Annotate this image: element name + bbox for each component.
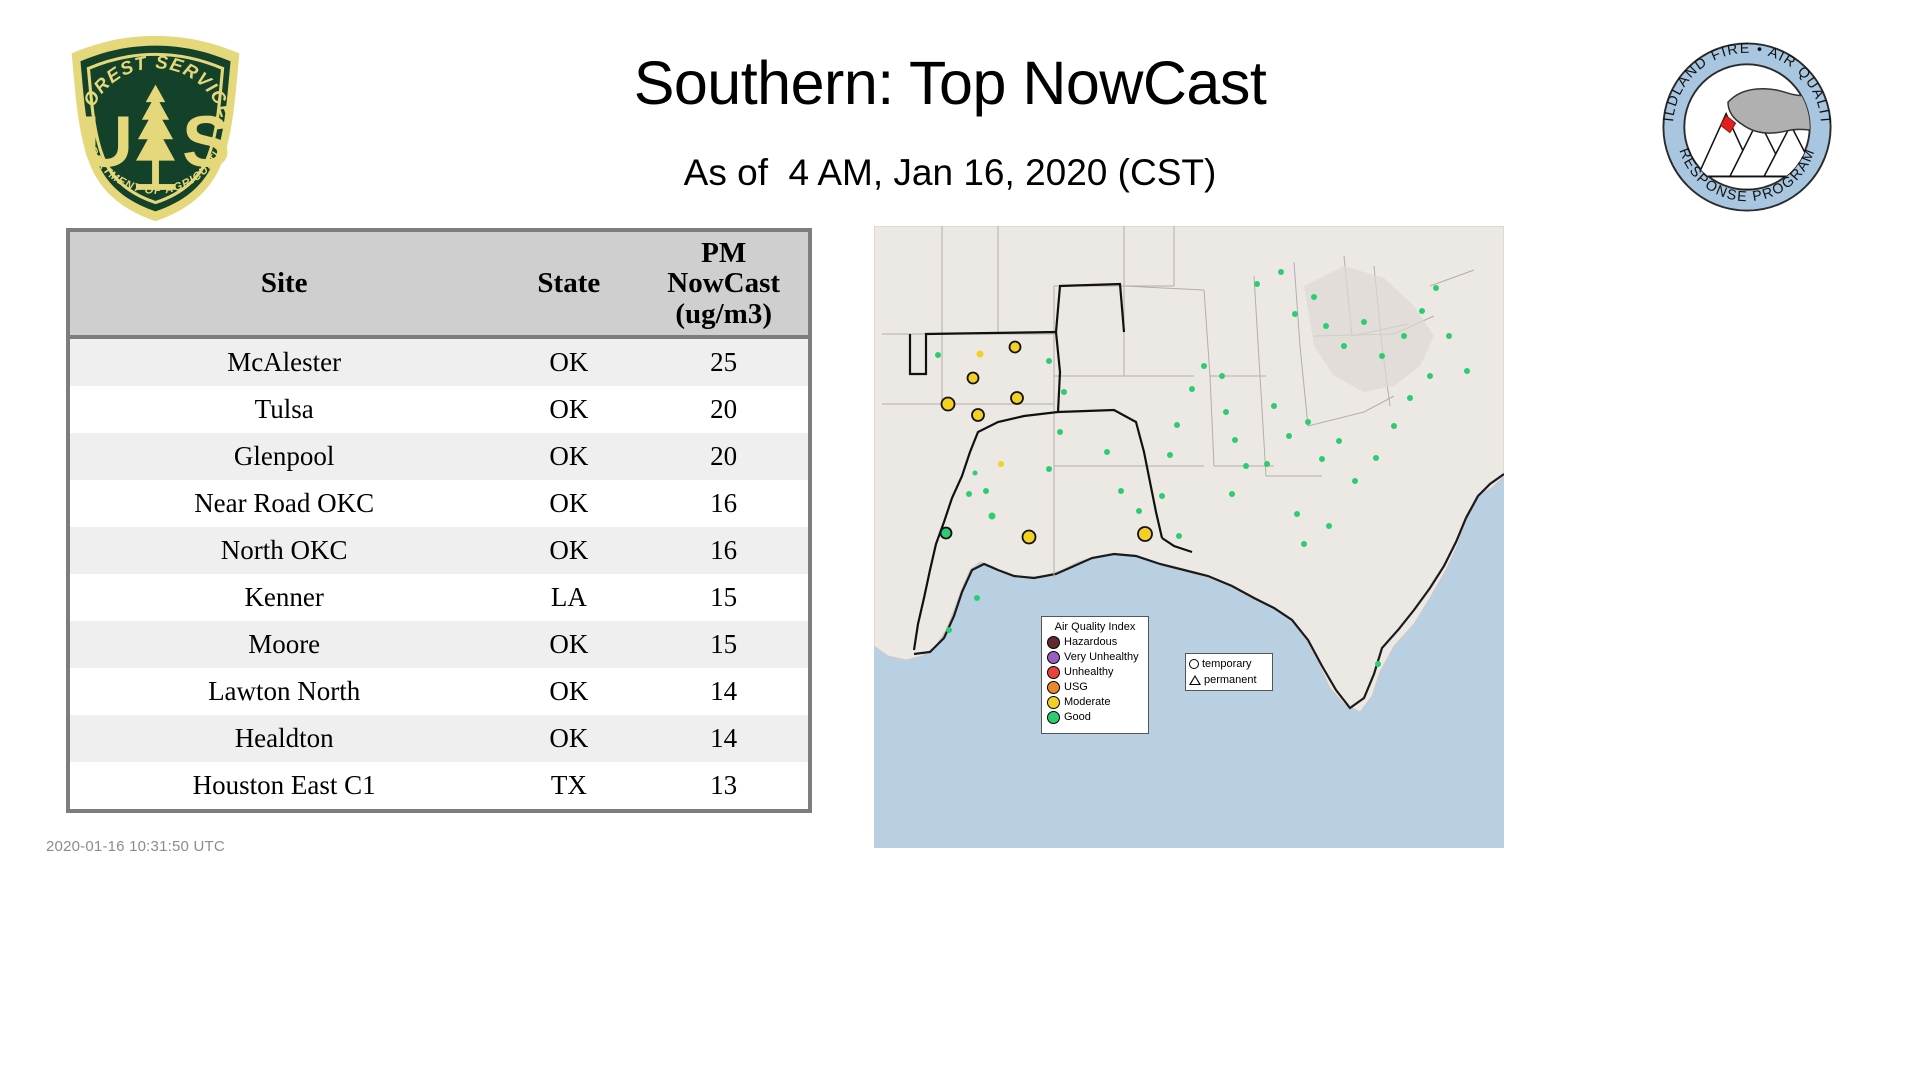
monitor-point[interactable] — [1010, 342, 1021, 353]
legend-row-permanent: permanent — [1189, 672, 1269, 688]
cell-state: TX — [498, 762, 639, 811]
monitor-point[interactable] — [1138, 527, 1152, 541]
monitor-point[interactable] — [1159, 493, 1165, 499]
table-header: Site State PM NowCast (ug/m3) — [68, 230, 810, 337]
column-header-pm-nowcast: PM NowCast (ug/m3) — [639, 230, 810, 337]
monitor-point[interactable] — [1341, 343, 1347, 349]
monitor-point[interactable] — [1046, 466, 1052, 472]
monitor-point[interactable] — [1375, 661, 1381, 667]
usfs-logo: FOREST SERVICE DEPARTMENT OF AGRICULTURE… — [58, 30, 253, 225]
table-row: North OKCOK16 — [68, 527, 810, 574]
cell-site: Lawton North — [68, 668, 498, 715]
aqi-legend-item: Hazardous — [1047, 635, 1143, 650]
pm-header-line-3: (ug/m3) — [639, 299, 808, 329]
cell-state: OK — [498, 386, 639, 433]
legend-label-temporary: temporary — [1202, 658, 1252, 670]
monitor-point[interactable] — [1189, 386, 1195, 392]
cell-state: OK — [498, 480, 639, 527]
monitor-point[interactable] — [1223, 409, 1229, 415]
pm-header-line-1: PM — [639, 238, 808, 268]
monitor-point[interactable] — [1219, 373, 1225, 379]
triangle-icon — [1189, 675, 1201, 685]
monitor-point[interactable] — [1057, 429, 1063, 435]
cell-state: OK — [498, 621, 639, 668]
aqi-swatch-icon — [1047, 681, 1060, 694]
monitor-point[interactable] — [1419, 308, 1425, 314]
cell-pm-nowcast: 20 — [639, 386, 810, 433]
aqi-legend: Air Quality Index HazardousVery Unhealth… — [1041, 616, 1149, 734]
aqi-swatch-icon — [1047, 711, 1060, 724]
monitor-point[interactable] — [946, 627, 952, 633]
monitor-point[interactable] — [1391, 423, 1397, 429]
monitor-point[interactable] — [942, 398, 955, 411]
table-row: MooreOK15 — [68, 621, 810, 668]
monitor-point[interactable] — [1336, 438, 1342, 444]
cell-state: OK — [498, 715, 639, 762]
monitor-point[interactable] — [1136, 508, 1142, 514]
monitor-point[interactable] — [973, 471, 978, 476]
usfs-letter-u: U — [81, 103, 133, 183]
monitor-point[interactable] — [1061, 389, 1067, 395]
monitor-point[interactable] — [1352, 478, 1358, 484]
monitor-point[interactable] — [1294, 511, 1300, 517]
monitor-point[interactable] — [1292, 311, 1298, 317]
monitor-point[interactable] — [1232, 437, 1238, 443]
monitor-point[interactable] — [1319, 456, 1325, 462]
monitor-point[interactable] — [935, 352, 941, 358]
generated-timestamp: 2020-01-16 10:31:50 UTC — [46, 838, 225, 855]
monitor-point[interactable] — [1176, 533, 1182, 539]
aqi-swatch-icon — [1047, 636, 1060, 649]
cell-pm-nowcast: 15 — [639, 574, 810, 621]
monitor-point[interactable] — [1243, 463, 1249, 469]
monitor-point[interactable] — [1286, 433, 1292, 439]
column-header-site: Site — [68, 230, 498, 337]
pm-header-line-2: NowCast — [639, 268, 808, 298]
monitor-point[interactable] — [1373, 455, 1379, 461]
monitor-point[interactable] — [1305, 419, 1311, 425]
cell-site: Tulsa — [68, 386, 498, 433]
cell-pm-nowcast: 14 — [639, 668, 810, 715]
cell-site: McAlester — [68, 337, 498, 386]
usfs-letter-s: S — [182, 103, 230, 183]
table-row: HealdtonOK14 — [68, 715, 810, 762]
monitor-point[interactable] — [1326, 523, 1332, 529]
cell-pm-nowcast: 25 — [639, 337, 810, 386]
cell-site: Kenner — [68, 574, 498, 621]
cell-pm-nowcast: 16 — [639, 527, 810, 574]
site-type-legend: temporary permanent — [1185, 653, 1273, 691]
aqi-swatch-icon — [1047, 696, 1060, 709]
monitor-point[interactable] — [968, 373, 979, 384]
cell-site: Glenpool — [68, 433, 498, 480]
aqi-swatch-icon — [1047, 666, 1060, 679]
monitor-point[interactable] — [1323, 323, 1329, 329]
monitor-point[interactable] — [1118, 488, 1124, 494]
monitor-point[interactable] — [1301, 541, 1307, 547]
table-row: Houston East C1TX13 — [68, 762, 810, 811]
legend-row-temporary: temporary — [1189, 656, 1269, 672]
aqi-legend-item: Very Unhealthy — [1047, 650, 1143, 665]
aqi-legend-rows: HazardousVery UnhealthyUnhealthyUSGModer… — [1047, 635, 1143, 725]
legend-label-permanent: permanent — [1204, 674, 1257, 686]
monitor-point[interactable] — [966, 491, 972, 497]
aqi-legend-label: Very Unhealthy — [1064, 650, 1139, 665]
monitor-point[interactable] — [1379, 353, 1385, 359]
cell-state: OK — [498, 337, 639, 386]
cell-site: Near Road OKC — [68, 480, 498, 527]
monitor-point[interactable] — [1264, 461, 1270, 467]
table-body: McAlesterOK25TulsaOK20GlenpoolOK20Near R… — [68, 337, 810, 811]
monitor-point[interactable] — [1407, 395, 1413, 401]
cell-pm-nowcast: 16 — [639, 480, 810, 527]
aqi-legend-label: Unhealthy — [1064, 665, 1114, 680]
cell-site: North OKC — [68, 527, 498, 574]
aqi-legend-label: Good — [1064, 710, 1091, 725]
monitor-point[interactable] — [1174, 422, 1180, 428]
cell-pm-nowcast: 13 — [639, 762, 810, 811]
monitor-point[interactable] — [1046, 358, 1052, 364]
wfaqrp-logo: WILDLAND FIRE • AIR QUALITY RESPONSE PRO… — [1652, 32, 1842, 222]
monitor-point[interactable] — [1278, 269, 1284, 275]
monitor-point[interactable] — [1271, 403, 1277, 409]
monitor-point[interactable] — [983, 488, 989, 494]
monitor-point[interactable] — [972, 409, 984, 421]
table-row: GlenpoolOK20 — [68, 433, 810, 480]
monitor-point[interactable] — [1011, 392, 1023, 404]
aqi-legend-item: Unhealthy — [1047, 665, 1143, 680]
monitor-point[interactable] — [1201, 363, 1207, 369]
nowcast-table-container: Site State PM NowCast (ug/m3) McAlesterO… — [66, 228, 812, 813]
cell-pm-nowcast: 20 — [639, 433, 810, 480]
cell-state: LA — [498, 574, 639, 621]
cell-site: Healdton — [68, 715, 498, 762]
monitor-point[interactable] — [1023, 531, 1036, 544]
table-row: KennerLA15 — [68, 574, 810, 621]
nowcast-table: Site State PM NowCast (ug/m3) McAlesterO… — [66, 228, 812, 813]
circle-icon — [1189, 659, 1199, 669]
monitor-point[interactable] — [1427, 373, 1433, 379]
monitor-point[interactable] — [1167, 452, 1173, 458]
column-header-state: State — [498, 230, 639, 337]
aqi-swatch-icon — [1047, 651, 1060, 664]
monitor-point[interactable] — [1361, 319, 1367, 325]
aqi-legend-title: Air Quality Index — [1047, 621, 1143, 633]
monitor-point[interactable] — [1254, 281, 1260, 287]
aqi-legend-label: Hazardous — [1064, 635, 1117, 650]
aqi-legend-item: USG — [1047, 680, 1143, 695]
table-header-row: Site State PM NowCast (ug/m3) — [68, 230, 810, 337]
table-row: TulsaOK20 — [68, 386, 810, 433]
cell-pm-nowcast: 14 — [639, 715, 810, 762]
table-row: McAlesterOK25 — [68, 337, 810, 386]
table-row: Near Road OKCOK16 — [68, 480, 810, 527]
cell-state: OK — [498, 668, 639, 715]
monitor-point[interactable] — [1104, 449, 1110, 455]
monitor-point[interactable] — [977, 351, 984, 358]
monitor-point[interactable] — [1311, 294, 1317, 300]
aqi-legend-item: Good — [1047, 710, 1143, 725]
page-subtitle: As of 4 AM, Jan 16, 2020 (CST) — [260, 152, 1640, 194]
table-row: Lawton NorthOK14 — [68, 668, 810, 715]
air-quality-map[interactable]: Air Quality Index HazardousVery Unhealth… — [874, 226, 1504, 848]
monitor-point[interactable] — [974, 595, 980, 601]
monitor-point[interactable] — [989, 513, 996, 520]
cell-state: OK — [498, 433, 639, 480]
monitor-point[interactable] — [1464, 368, 1470, 374]
monitor-point[interactable] — [1446, 333, 1452, 339]
cell-site: Moore — [68, 621, 498, 668]
cell-site: Houston East C1 — [68, 762, 498, 811]
monitor-point[interactable] — [998, 461, 1004, 467]
aqi-legend-label: USG — [1064, 680, 1088, 695]
cell-state: OK — [498, 527, 639, 574]
aqi-legend-item: Moderate — [1047, 695, 1143, 710]
aqi-legend-label: Moderate — [1064, 695, 1110, 710]
monitor-point[interactable] — [1433, 285, 1439, 291]
monitor-point[interactable] — [941, 528, 952, 539]
cell-pm-nowcast: 15 — [639, 621, 810, 668]
monitor-point[interactable] — [1229, 491, 1235, 497]
page-title: Southern: Top NowCast — [260, 48, 1640, 118]
monitor-point[interactable] — [1401, 333, 1407, 339]
